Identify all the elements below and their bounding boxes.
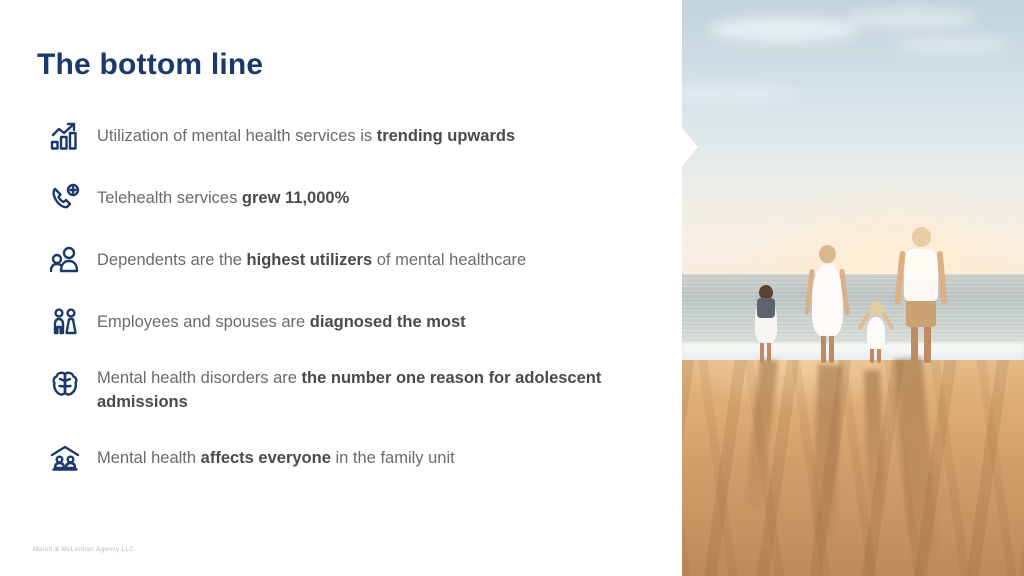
list-item: Mental health disorders are the number o… bbox=[45, 366, 645, 414]
toddler-figure bbox=[862, 301, 890, 363]
body bbox=[867, 317, 885, 349]
brain-icon bbox=[45, 364, 85, 404]
list-item: Telehealth services grew 11,000% bbox=[45, 180, 645, 220]
content-panel: The bottom line Utilization of mental he… bbox=[0, 0, 682, 576]
text-emphasis: highest utilizers bbox=[247, 251, 373, 269]
list-item-text: Dependents are the highest utilizers of … bbox=[97, 242, 526, 272]
list-item: Mental health affects everyone in the fa… bbox=[45, 440, 645, 480]
bar-chart-up-icon bbox=[45, 116, 85, 156]
couple-icon bbox=[45, 302, 85, 342]
leg bbox=[760, 341, 764, 363]
arm bbox=[937, 251, 948, 305]
shorts bbox=[906, 297, 936, 327]
text-part-3: of mental healthcare bbox=[372, 251, 526, 269]
torso bbox=[757, 298, 775, 318]
text-part-1: Mental health bbox=[97, 449, 201, 467]
sky bbox=[682, 0, 1024, 282]
text-part-1: Telehealth services bbox=[97, 189, 242, 207]
text-part-2: is bbox=[360, 127, 377, 145]
text-part-1: Employees and spouses are bbox=[97, 313, 310, 331]
text-emphasis: affects everyone bbox=[201, 449, 331, 467]
text-emphasis: grew 11,000% bbox=[242, 189, 349, 207]
cloud bbox=[894, 37, 1010, 54]
adult-female-figure bbox=[805, 245, 849, 363]
text-part-1: Utilization of mental health services bbox=[97, 127, 360, 145]
list-item: Utilization of mental health services is… bbox=[45, 118, 645, 158]
beach-family-photo bbox=[682, 0, 1024, 576]
dress bbox=[812, 264, 843, 336]
dependents-group-icon bbox=[45, 240, 85, 280]
leg bbox=[924, 323, 931, 363]
leg bbox=[821, 333, 826, 363]
shirt bbox=[904, 249, 938, 301]
footer-attribution: Marsh & McLennan Agency LLC bbox=[33, 546, 134, 553]
page-title: The bottom line bbox=[37, 48, 263, 82]
list-item-text: Telehealth services grew 11,000% bbox=[97, 180, 349, 210]
list-item-text: Employees and spouses are diagnosed the … bbox=[97, 304, 466, 334]
leg bbox=[911, 323, 918, 363]
leg bbox=[767, 341, 771, 363]
adult-male-figure bbox=[895, 227, 947, 363]
sand bbox=[682, 360, 1024, 576]
list-item: Dependents are the highest utilizers of … bbox=[45, 242, 645, 282]
telehealth-phone-icon bbox=[45, 178, 85, 218]
family-home-icon bbox=[45, 438, 85, 478]
cloud bbox=[682, 85, 798, 105]
slide: The bottom line Utilization of mental he… bbox=[0, 0, 1024, 576]
text-emphasis: diagnosed the most bbox=[310, 313, 466, 331]
text-emphasis: trending upwards bbox=[377, 127, 515, 145]
text-part-1: Dependents are the bbox=[97, 251, 247, 269]
head bbox=[912, 227, 931, 247]
cloud bbox=[846, 8, 976, 28]
text-part-1: Mental health disorders are bbox=[97, 369, 302, 387]
list-item-text: Mental health disorders are the number o… bbox=[97, 366, 617, 414]
leg bbox=[877, 347, 881, 363]
child-figure bbox=[750, 285, 782, 363]
leg bbox=[829, 333, 834, 363]
text-part-3: in the family unit bbox=[331, 449, 455, 467]
leg bbox=[870, 347, 874, 363]
list-item: Employees and spouses are diagnosed the … bbox=[45, 304, 645, 344]
cloud bbox=[709, 17, 859, 42]
head bbox=[819, 245, 836, 263]
list-item-text: Utilization of mental health services is… bbox=[97, 118, 515, 148]
list-item-text: Mental health affects everyone in the fa… bbox=[97, 440, 455, 470]
bullet-list: Utilization of mental health services is… bbox=[45, 118, 645, 502]
